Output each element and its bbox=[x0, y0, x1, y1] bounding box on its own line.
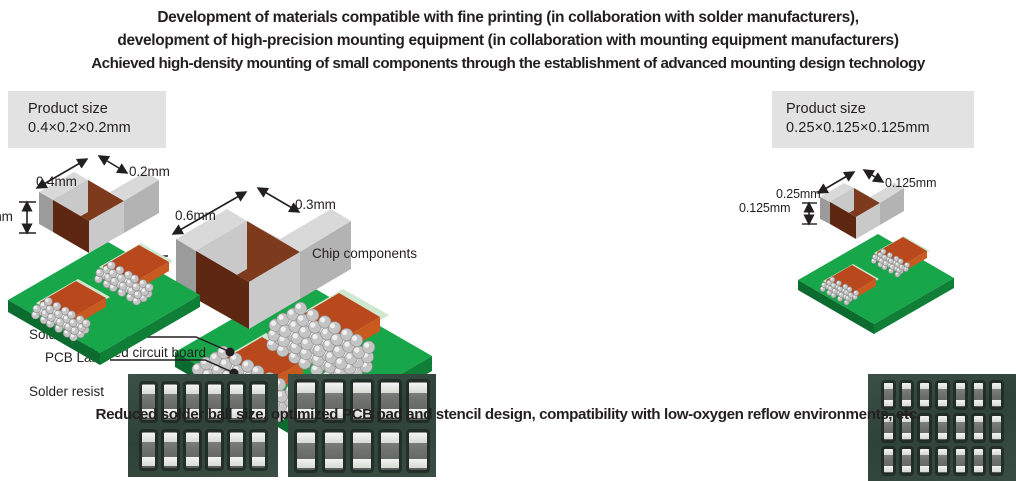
photo-chip bbox=[955, 382, 966, 408]
assembly-illustration-0201 bbox=[752, 84, 1016, 396]
headline-line-3: Achieved high-density mounting of small … bbox=[0, 52, 1016, 75]
photo-chip bbox=[883, 448, 894, 474]
photo-chip bbox=[955, 448, 966, 474]
panel-0201: Product size 0.25×0.125×0.125mm bbox=[752, 84, 1016, 396]
photo-chip bbox=[991, 448, 1002, 474]
mounted-components-photo-0402 bbox=[128, 374, 278, 477]
dimension-width-label: 0.2mm bbox=[129, 164, 170, 179]
photo-chip bbox=[163, 431, 178, 469]
photo-chip bbox=[937, 448, 948, 474]
photo-chip-row bbox=[883, 448, 1002, 474]
photo-chip-grid bbox=[128, 374, 278, 477]
headline-line-1: Development of materials compatible with… bbox=[0, 6, 1016, 29]
headline-line-2: development of high-precision mounting e… bbox=[0, 29, 1016, 52]
dimension-height-label: 0.2mm bbox=[0, 209, 13, 224]
assembly-illustration-0402 bbox=[0, 84, 300, 396]
photo-chip bbox=[919, 382, 930, 408]
dimension-height-label: 0.125mm bbox=[739, 201, 790, 215]
panel-0402: Product size 0.4×0.2×0.2mm bbox=[0, 84, 300, 396]
footer-text: Reduced solder ball size, optimized PCB … bbox=[96, 406, 921, 423]
photo-chip bbox=[991, 382, 1002, 408]
photo-chip bbox=[901, 448, 912, 474]
mounted-components-photo-0603 bbox=[288, 374, 436, 477]
photo-chip bbox=[185, 431, 200, 469]
photo-chip bbox=[973, 382, 984, 408]
chip-component-0201 bbox=[820, 183, 904, 239]
photo-chip bbox=[919, 448, 930, 474]
photo-chip-grid bbox=[288, 374, 436, 477]
photo-chip bbox=[973, 448, 984, 474]
photo-chip bbox=[229, 431, 244, 469]
photo-chip bbox=[207, 431, 222, 469]
photo-chip-grid bbox=[868, 374, 1016, 481]
photo-chip-row bbox=[883, 382, 1002, 408]
photo-chip-row bbox=[296, 431, 428, 471]
photo-chip bbox=[883, 382, 894, 408]
dimension-length-label: 0.25mm bbox=[776, 187, 821, 201]
footer-block: Reduced solder ball size, optimized PCB … bbox=[0, 406, 1016, 424]
photo-chip bbox=[352, 431, 372, 471]
headline-block: Development of materials compatible with… bbox=[0, 6, 1016, 75]
dimension-width-label: 0.3mm bbox=[295, 197, 336, 212]
chip-components-label: Chip components bbox=[312, 246, 417, 261]
mounted-components-photo-0201 bbox=[868, 374, 1016, 481]
photo-chip bbox=[937, 382, 948, 408]
photo-chip-row bbox=[141, 431, 266, 469]
photo-chip bbox=[408, 431, 428, 471]
dimension-length-label: 0.4mm bbox=[36, 174, 77, 189]
pcb-board-0402 bbox=[8, 242, 200, 365]
photo-chip bbox=[296, 431, 316, 471]
photo-chip bbox=[324, 431, 344, 471]
photo-chip bbox=[251, 431, 266, 469]
dimension-width-label: 0.125mm bbox=[885, 176, 936, 190]
photo-chip bbox=[901, 382, 912, 408]
photo-chip bbox=[380, 431, 400, 471]
photo-chip bbox=[141, 431, 156, 469]
